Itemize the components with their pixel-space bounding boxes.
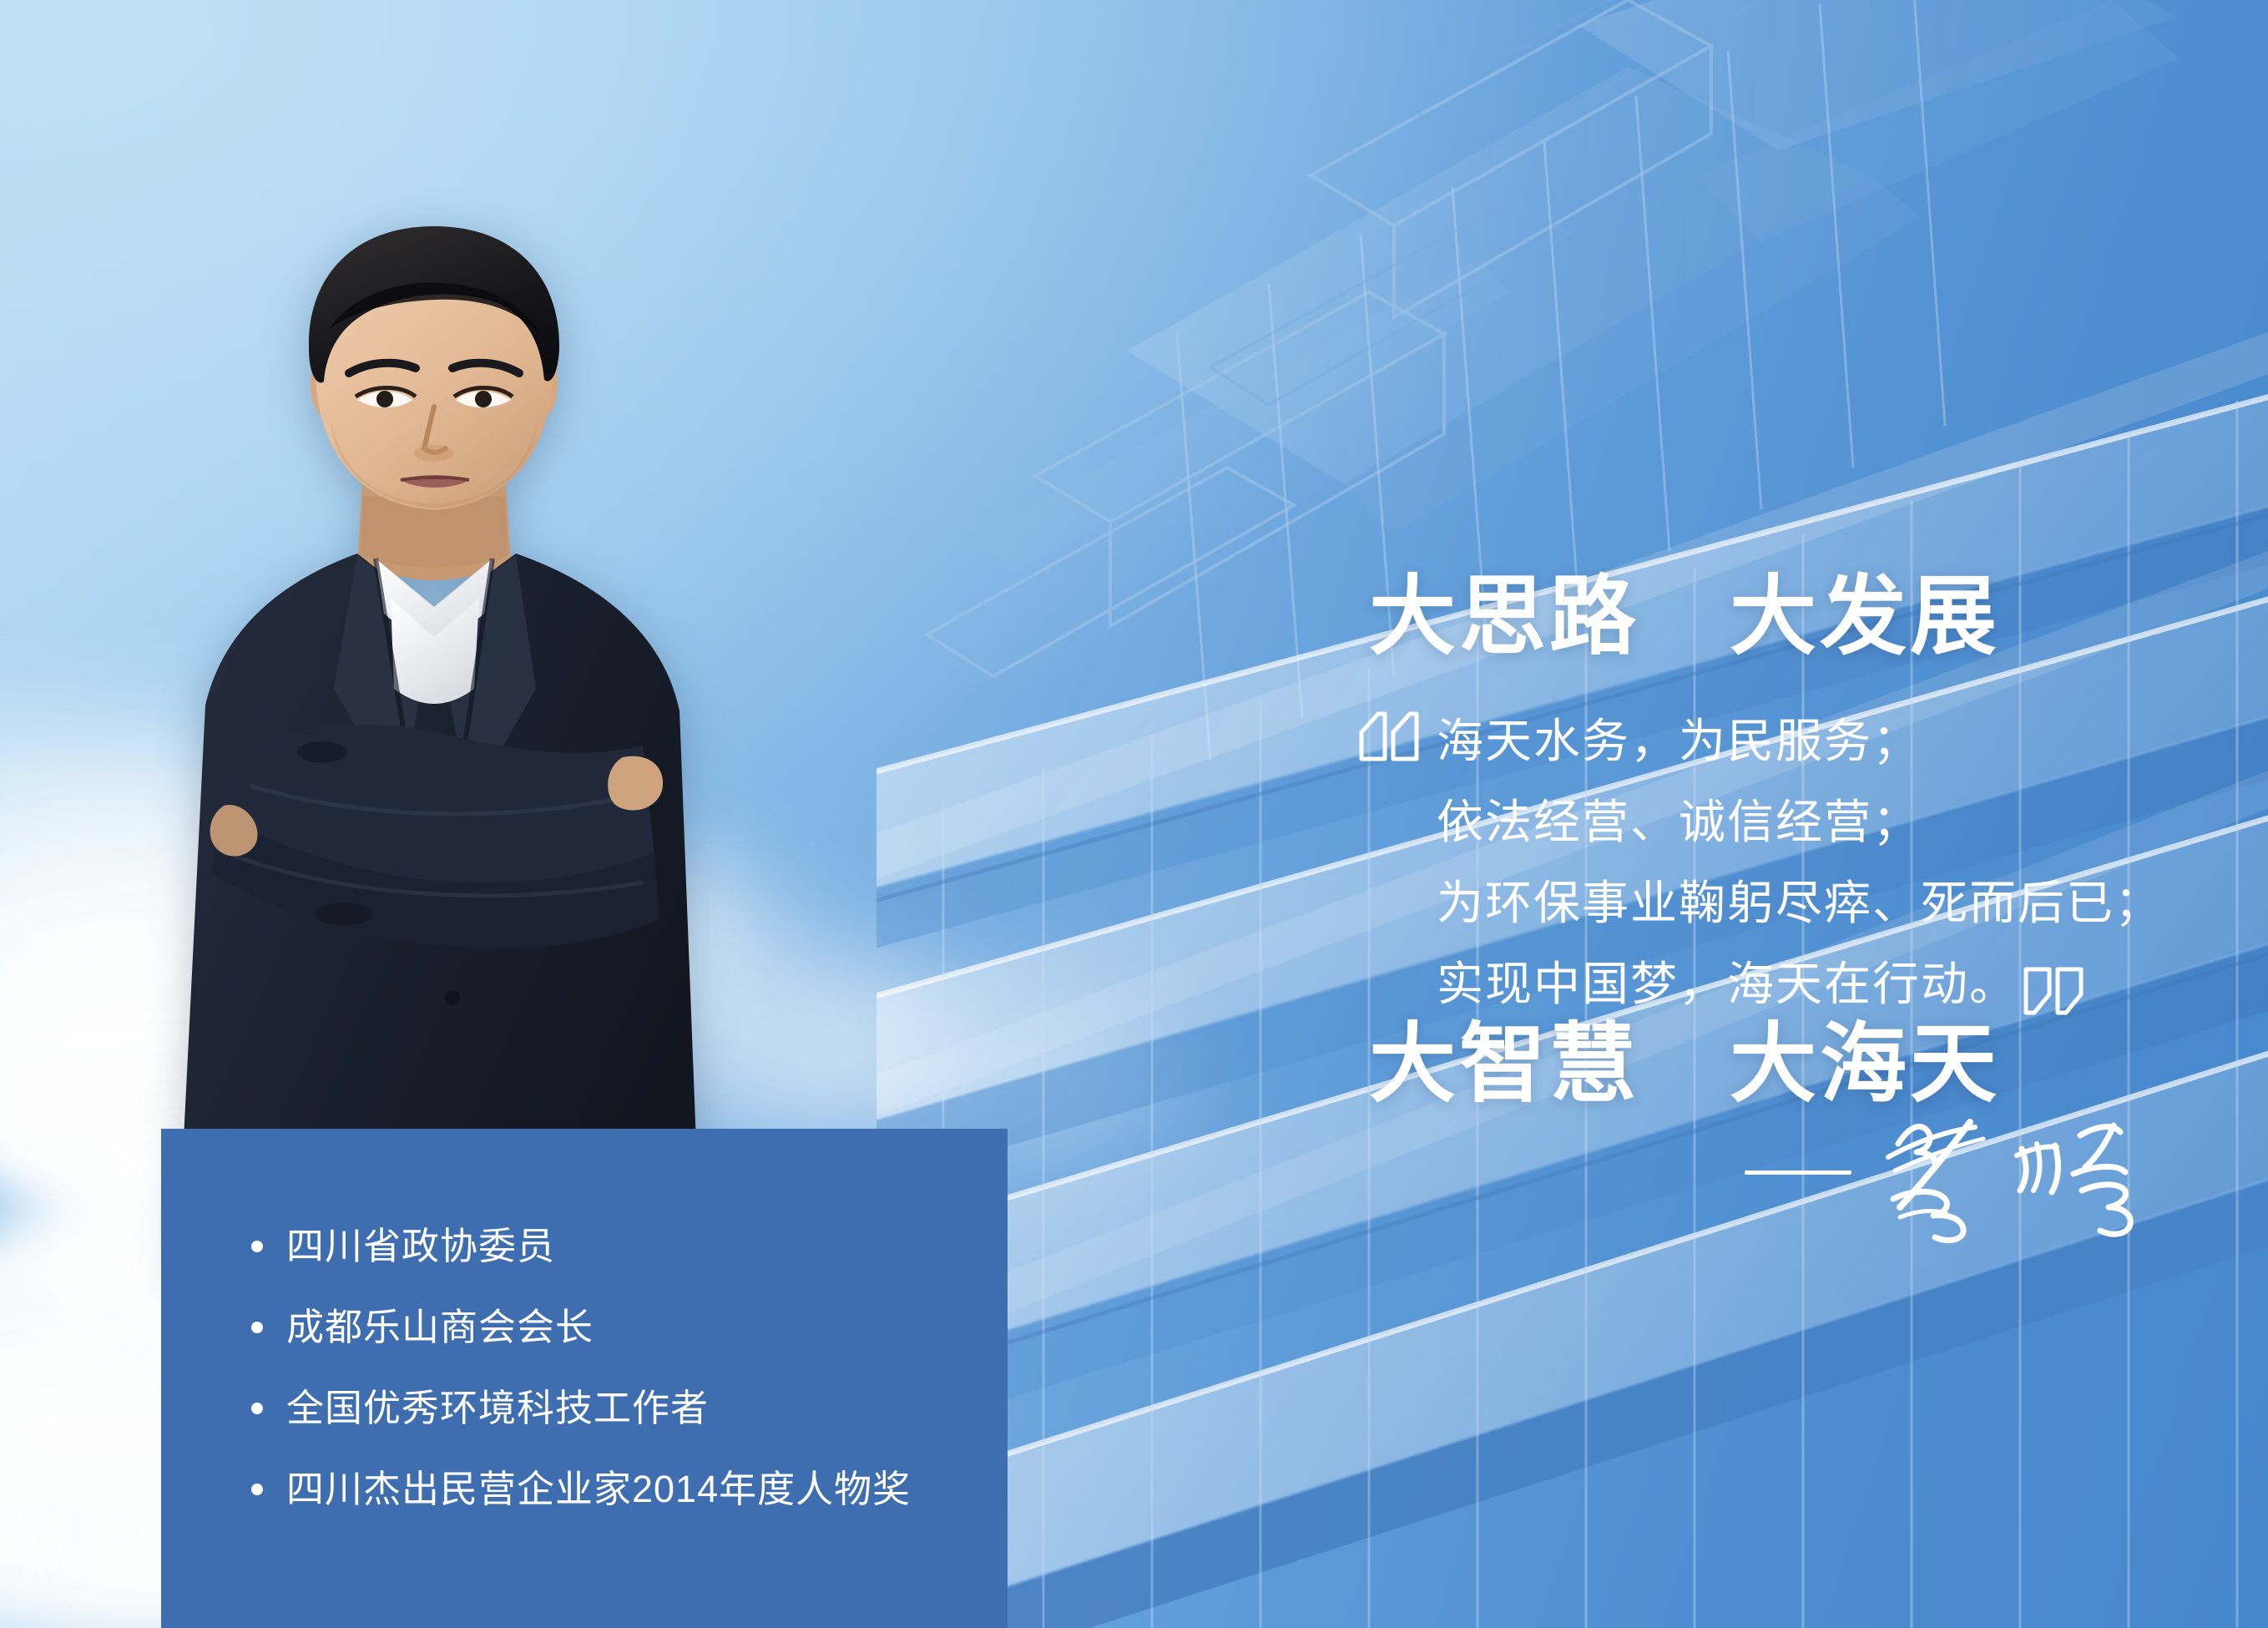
quote-text-4: 实现中国梦，海天在行动。 [1437, 944, 2018, 1025]
bullet-icon [251, 1403, 263, 1414]
quote-line-1: 海天水务，为民服务； [1356, 701, 2225, 782]
open-quote-icon [1356, 710, 1422, 762]
credentials-list: 四川省政协委员 成都乐山商会会长 全国优秀环境科技工作者 四川杰出民营企业家20… [251, 1227, 1008, 1508]
signature-rule [1745, 1170, 1851, 1175]
headline-line-1: 大思路 大发展 [1369, 543, 2220, 692]
list-item: 四川省政协委员 [251, 1227, 1008, 1265]
list-item: 全国优秀环境科技工作者 [251, 1389, 1008, 1427]
quote-line-2: 依法经营、诚信经营； [1356, 782, 2225, 863]
executive-portrait [125, 221, 743, 1273]
bullet-icon [251, 1484, 263, 1495]
quote-line-4: 实现中国梦，海天在行动。 [1356, 944, 2225, 1025]
quote-block: 海天水务，为民服务； 依法经营、诚信经营； 为环保事业鞠躬尽瘁、死而后已； 实现… [1356, 701, 2225, 1025]
poster-canvas: 大思路 大发展 大智慧 大海天 海天水务，为民服务； 依法经营、诚信经营； 为环… [0, 0, 2268, 1628]
quote-text-1: 海天水务，为民服务； [1437, 701, 1921, 782]
bullet-icon [251, 1322, 263, 1333]
credential-label: 四川省政协委员 [286, 1227, 555, 1265]
bullet-icon [251, 1241, 263, 1252]
list-item: 四川杰出民营企业家2014年度人物奖 [251, 1470, 1008, 1508]
quote-text-2: 依法经营、诚信经营； [1437, 782, 1921, 863]
quote-text-3: 为环保事业鞠躬尽瘁、死而后已； [1437, 863, 2163, 944]
quote-line-3: 为环保事业鞠躬尽瘁、死而后已； [1356, 863, 2225, 944]
list-item: 成都乐山商会会长 [251, 1308, 1008, 1346]
credential-label: 成都乐山商会会长 [286, 1308, 594, 1346]
credentials-panel: 四川省政协委员 成都乐山商会会长 全国优秀环境科技工作者 四川杰出民营企业家20… [161, 1129, 1008, 1628]
signature-row [1745, 1110, 2179, 1269]
handwritten-signature-icon [1870, 1110, 2145, 1261]
credential-label: 四川杰出民营企业家2014年度人物奖 [286, 1470, 911, 1508]
close-quote-icon [2023, 966, 2084, 1016]
credential-label: 全国优秀环境科技工作者 [286, 1389, 709, 1427]
